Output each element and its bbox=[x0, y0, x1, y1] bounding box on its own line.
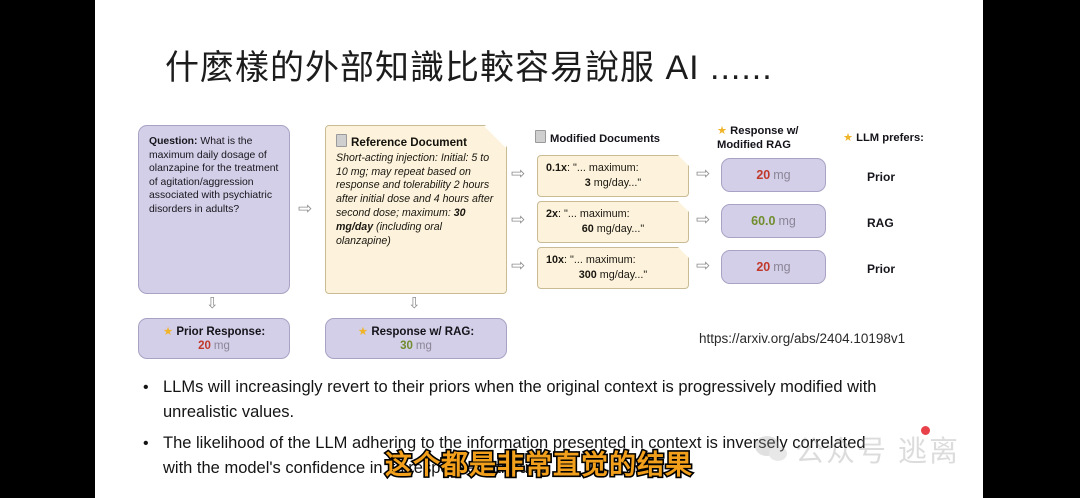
letterbox-bar-right bbox=[983, 0, 1080, 498]
response-value-3: 20 bbox=[756, 260, 770, 274]
llm-prefers-value-1: Prior bbox=[867, 170, 895, 184]
llm-prefers-value-3: Prior bbox=[867, 262, 895, 276]
response-box-3: 20mg bbox=[721, 250, 826, 284]
star-icon: ★ bbox=[843, 132, 853, 144]
llm-prefers-value-2: RAG bbox=[867, 216, 894, 230]
cursor-dot bbox=[921, 426, 930, 435]
column-header-modified-documents: Modified Documents bbox=[535, 130, 660, 146]
bullet-marker: • bbox=[143, 375, 149, 400]
page-icon bbox=[336, 134, 347, 147]
modified-prefix-3: : "... maximum: bbox=[564, 254, 636, 266]
source-url[interactable]: https://arxiv.org/abs/2404.10198v1 bbox=[699, 331, 905, 346]
modified-factor-2: 2x bbox=[546, 208, 558, 220]
modified-document-box-3: 10x: "... maximum: 300 mg/day..." bbox=[537, 247, 689, 289]
video-frame: 什麼樣的外部知識比較容易說服 AI ...... Question: What … bbox=[0, 0, 1080, 498]
modified-factor-3: 10x bbox=[546, 254, 564, 266]
reference-document-box: Reference Document Short-acting injectio… bbox=[325, 125, 507, 294]
modified-suffix-2: mg/day..." bbox=[594, 223, 644, 235]
arrow-right-modified-to-response-1: ⇨ bbox=[696, 165, 710, 182]
prior-response-value: 20 bbox=[198, 340, 211, 352]
modified-prefix-2: : "... maximum: bbox=[558, 208, 630, 220]
list-item: • LLMs will increasingly revert to their… bbox=[133, 375, 893, 425]
subtitle-overlay: 这个都是非常直觉的结果 bbox=[366, 443, 712, 482]
modified-factor-1: 0.1x bbox=[546, 162, 567, 174]
bullet-marker: • bbox=[143, 431, 149, 456]
page-title: 什麼樣的外部知識比較容易說服 AI ...... bbox=[165, 40, 773, 89]
star-icon: ★ bbox=[717, 125, 727, 137]
question-box: Question: What is the maximum daily dosa… bbox=[138, 125, 290, 294]
modified-document-box-1: 0.1x: "... maximum: 3 mg/day..." bbox=[537, 155, 689, 197]
response-value-1: 20 bbox=[756, 168, 770, 182]
arrow-down-to-prior-response: ⇩ bbox=[206, 296, 219, 311]
rag-response-box: ★ Response w/ RAG: 30mg bbox=[325, 318, 507, 359]
modified-dose-3: 300 bbox=[579, 269, 597, 281]
star-icon: ★ bbox=[163, 326, 173, 338]
rag-response-label: ★ Response w/ RAG: bbox=[358, 325, 474, 339]
column-header-llm-prefers: ★ LLM prefers: bbox=[843, 131, 924, 145]
response-box-1: 20mg bbox=[721, 158, 826, 192]
arrow-right-reference-to-modified-3: ⇨ bbox=[511, 257, 525, 274]
reference-document-header: Reference Document bbox=[336, 134, 496, 150]
arrow-right-reference-to-modified-2: ⇨ bbox=[511, 211, 525, 228]
response-unit-1: mg bbox=[773, 168, 790, 182]
rag-response-unit: mg bbox=[416, 340, 432, 352]
prior-response-unit: mg bbox=[214, 340, 230, 352]
response-unit-3: mg bbox=[773, 260, 790, 274]
modified-suffix-3: mg/day..." bbox=[597, 269, 647, 281]
response-value-2: 60.0 bbox=[751, 214, 775, 228]
question-body: What is the maximum daily dosage of olan… bbox=[149, 136, 278, 215]
star-icon: ★ bbox=[358, 326, 368, 338]
column-header-response-modified-rag: ★ Response w/ Modified RAG bbox=[717, 124, 822, 152]
arrow-right-modified-to-response-2: ⇨ bbox=[696, 211, 710, 228]
prior-response-label: ★ Prior Response: bbox=[163, 325, 265, 339]
response-unit-2: mg bbox=[778, 214, 795, 228]
bullet-text: LLMs will increasingly revert to their p… bbox=[163, 378, 876, 421]
modified-prefix-1: : "... maximum: bbox=[567, 162, 639, 174]
arrow-down-to-rag-response: ⇩ bbox=[408, 296, 421, 311]
page-icon bbox=[535, 130, 546, 143]
arrow-right-question-to-reference: ⇨ bbox=[298, 200, 312, 217]
arrow-right-reference-to-modified-1: ⇨ bbox=[511, 165, 525, 182]
slide-canvas: 什麼樣的外部知識比較容易說服 AI ...... Question: What … bbox=[95, 0, 983, 498]
letterbox-bar-left bbox=[0, 0, 95, 498]
question-header: Question: bbox=[149, 136, 198, 147]
response-box-2: 60.0mg bbox=[721, 204, 826, 238]
rag-response-value: 30 bbox=[400, 340, 413, 352]
arrow-right-modified-to-response-3: ⇨ bbox=[696, 257, 710, 274]
reference-document-text-1: Short-acting injection: Initial: 5 to 10… bbox=[336, 152, 493, 219]
modified-document-box-2: 2x: "... maximum: 60 mg/day..." bbox=[537, 201, 689, 243]
prior-response-box: ★ Prior Response: 20mg bbox=[138, 318, 290, 359]
modified-suffix-1: mg/day..." bbox=[591, 177, 641, 189]
modified-dose-2: 60 bbox=[582, 223, 594, 235]
page-fold-corner bbox=[484, 126, 506, 148]
